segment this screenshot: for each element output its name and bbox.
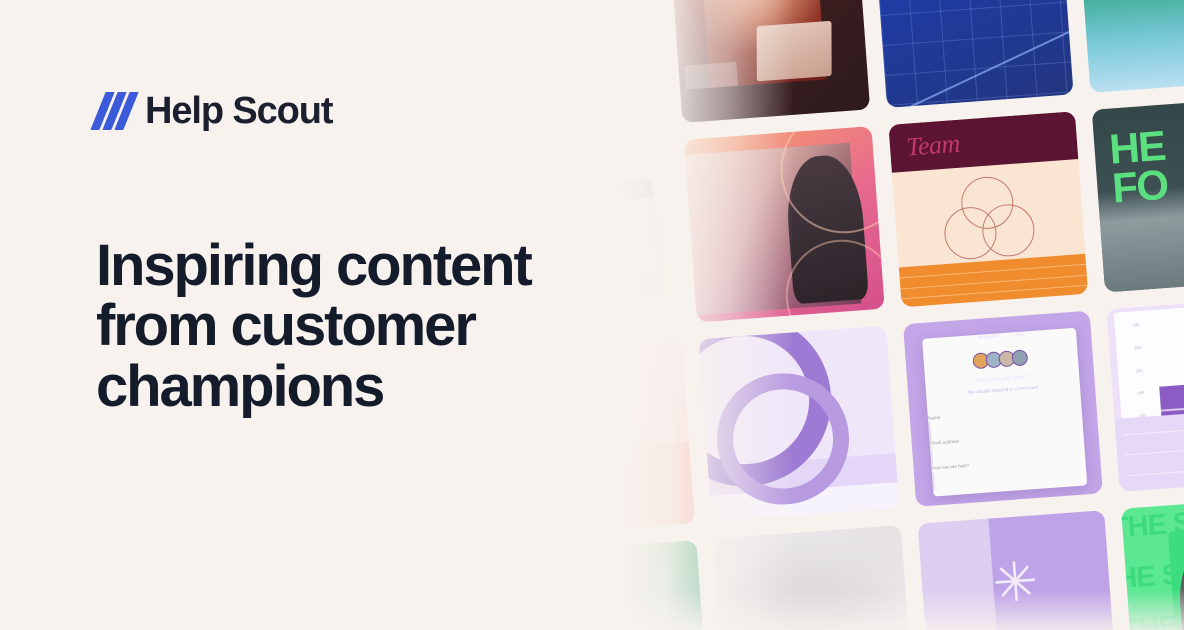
collage-tile-teal-green-type: HEFO xyxy=(1092,96,1184,292)
name-input[interactable] xyxy=(928,422,931,441)
venn-diagram-icon xyxy=(941,173,1036,253)
message-field-group: How can we help? xyxy=(932,448,1085,490)
y-tick: 300 xyxy=(1120,322,1139,328)
collage-tile-team-venn: Team xyxy=(888,111,1088,307)
agent-avatars xyxy=(924,346,1078,373)
hero-left-panel: Help Scout Inspiring content from custom… xyxy=(0,0,640,630)
page-title: Inspiring content from customer champion… xyxy=(96,236,616,417)
brand-name: Help Scout xyxy=(145,92,332,130)
collage-tile-beacon-widget: ⌕ Answers ◌ Ask How can we help? We usua… xyxy=(902,311,1102,507)
collage-tile-purple-shapes xyxy=(699,326,899,522)
poster-text: HEFO xyxy=(1108,127,1169,208)
headline-line-1: Inspiring content xyxy=(96,236,616,296)
brand-logo[interactable]: Help Scout xyxy=(97,92,332,130)
collage-tile-supportive-weekly: THE SUPPORTIVE WEEKLY THE SU WEEKLY THE … xyxy=(1121,495,1184,630)
email-label: Email address xyxy=(930,429,1083,445)
collage-tile-green-blue-gradient-top xyxy=(1077,0,1184,93)
collage-tile-blue-grid: No xyxy=(873,0,1073,108)
collage-grid: + › › No xyxy=(564,0,1184,630)
name-label: Name xyxy=(928,405,1081,421)
content-collage: + › › No xyxy=(564,0,1184,630)
headline-line-2: from customer xyxy=(96,296,616,356)
collage-tile-faded-photo xyxy=(713,525,913,630)
collage-tile-maroon-photo xyxy=(669,0,869,123)
beacon-window: ⌕ Answers ◌ Ask How can we help? We usua… xyxy=(922,328,1087,496)
chat-bubble-icon: ◌ xyxy=(1010,333,1014,339)
search-icon: ⌕ xyxy=(974,335,978,341)
message-label: How can we help? xyxy=(932,454,1085,470)
collage-tile-orange-photo xyxy=(684,126,884,322)
tab-ask[interactable]: ◌ Ask xyxy=(1010,332,1024,340)
poster-header: Team xyxy=(888,111,1078,172)
y-tick: 200 xyxy=(1124,367,1143,373)
email-input[interactable] xyxy=(930,447,933,466)
photo-blur xyxy=(713,525,913,630)
collage-tile-purple-asterisk: ✳ xyxy=(917,510,1117,630)
message-textarea[interactable] xyxy=(932,471,935,490)
grid-pattern xyxy=(873,0,1073,108)
headline-line-3: champions xyxy=(96,357,616,417)
beacon-tabs: ⌕ Answers ◌ Ask xyxy=(922,328,1076,346)
chart-lower-panel xyxy=(1114,405,1184,492)
beacon-form: Name Email address How can we help? xyxy=(926,388,1085,490)
fade-overlay xyxy=(917,519,1001,630)
collage-tile-bar-chart: 300 250 200 150 100 50 0 xyxy=(1106,296,1184,492)
poster-text: Team xyxy=(905,129,960,163)
overlay-strip xyxy=(684,62,738,90)
poster-footer xyxy=(898,254,1088,308)
laptop-shape xyxy=(757,20,832,81)
helpscout-bars-icon xyxy=(97,92,131,130)
y-tick: 150 xyxy=(1125,390,1144,396)
y-tick: 250 xyxy=(1122,345,1141,351)
tab-answers[interactable]: ⌕ Answers xyxy=(974,334,1000,343)
asterisk-icon: ✳ xyxy=(991,554,1040,611)
beacon-header: ⌕ Answers ◌ Ask How can we help? We usua… xyxy=(922,328,1079,415)
